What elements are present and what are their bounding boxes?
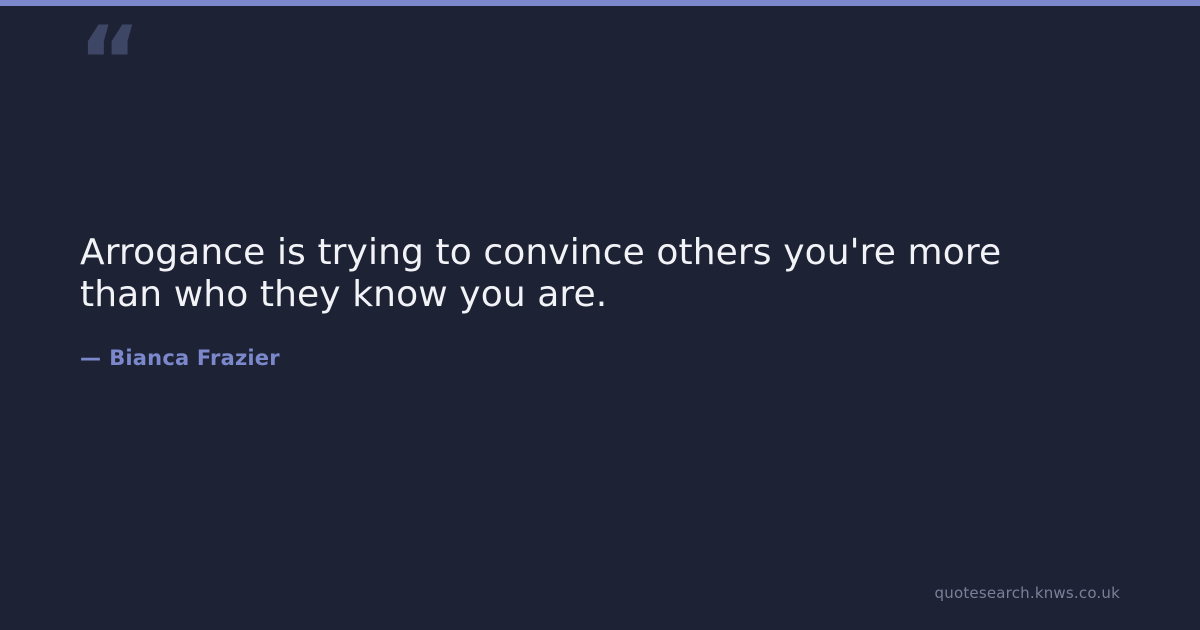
site-watermark: quotesearch.knws.co.uk <box>935 584 1120 602</box>
quote-card: “ Arrogance is trying to convince others… <box>0 0 1200 630</box>
quote-attribution: —Bianca Frazier <box>80 316 1120 371</box>
author-name: Bianca Frazier <box>109 346 280 370</box>
attribution-dash: — <box>80 346 101 370</box>
quote-content: Arrogance is trying to convince others y… <box>80 232 1120 371</box>
top-accent-bar <box>0 0 1200 6</box>
quotation-mark-icon: “ <box>78 14 139 110</box>
quote-text: Arrogance is trying to convince others y… <box>80 232 1055 316</box>
